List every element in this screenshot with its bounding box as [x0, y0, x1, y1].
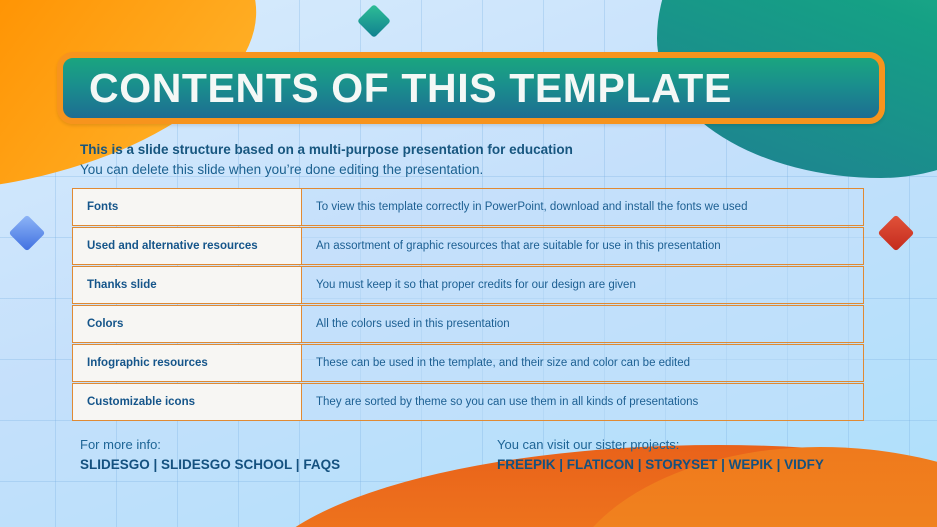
table-cell-description: They are sorted by theme so you can use … — [302, 383, 864, 421]
table-row-description: To view this template correctly in Power… — [316, 201, 747, 213]
table-row-label: Infographic resources — [87, 357, 208, 369]
table-cell-label: Fonts — [72, 188, 302, 226]
table-cell-description: You must keep it so that proper credits … — [302, 266, 864, 304]
table-cell-label: Used and alternative resources — [72, 227, 302, 265]
table-row-label: Colors — [87, 318, 123, 330]
title-banner: CONTENTS OF THIS TEMPLATE — [57, 52, 885, 124]
footer-sister-projects-links[interactable]: FREEPIK | FLATICON | STORYSET | WEPIK | … — [497, 455, 824, 475]
table-row-label: Customizable icons — [87, 396, 195, 408]
table-row-description: An assortment of graphic resources that … — [316, 240, 721, 252]
table-cell-label: Thanks slide — [72, 266, 302, 304]
subtitle-bold-line: This is a slide structure based on a mul… — [80, 140, 573, 160]
page-title: CONTENTS OF THIS TEMPLATE — [89, 68, 732, 109]
footer-more-info: For more info: SLIDESGO | SLIDESGO SCHOO… — [80, 435, 340, 475]
table-cell-label: Colors — [72, 305, 302, 343]
table-row[interactable]: Infographic resources These can be used … — [72, 344, 864, 382]
table-row-description: All the colors used in this presentation — [316, 318, 510, 330]
table-row-description: These can be used in the template, and t… — [316, 357, 690, 369]
contents-table: Fonts To view this template correctly in… — [72, 188, 864, 422]
table-cell-description: These can be used in the template, and t… — [302, 344, 864, 382]
table-row-label: Used and alternative resources — [87, 240, 258, 252]
table-row-description: They are sorted by theme so you can use … — [316, 396, 698, 408]
table-row[interactable]: Used and alternative resources An assort… — [72, 227, 864, 265]
table-cell-description: An assortment of graphic resources that … — [302, 227, 864, 265]
table-row[interactable]: Fonts To view this template correctly in… — [72, 188, 864, 226]
table-row-description: You must keep it so that proper credits … — [316, 279, 636, 291]
table-cell-description: To view this template correctly in Power… — [302, 188, 864, 226]
table-cell-label: Customizable icons — [72, 383, 302, 421]
footer-sister-projects-label: You can visit our sister projects: — [497, 435, 824, 455]
table-row[interactable]: Customizable icons They are sorted by th… — [72, 383, 864, 421]
table-cell-label: Infographic resources — [72, 344, 302, 382]
footer-sister-projects: You can visit our sister projects: FREEP… — [497, 435, 824, 475]
table-row[interactable]: Thanks slide You must keep it so that pr… — [72, 266, 864, 304]
subtitle-block: This is a slide structure based on a mul… — [80, 140, 573, 179]
subtitle-regular-line: You can delete this slide when you’re do… — [80, 160, 573, 180]
table-row[interactable]: Colors All the colors used in this prese… — [72, 305, 864, 343]
table-cell-description: All the colors used in this presentation — [302, 305, 864, 343]
footer-more-info-links[interactable]: SLIDESGO | SLIDESGO SCHOOL | FAQS — [80, 455, 340, 475]
footer-more-info-label: For more info: — [80, 435, 340, 455]
slide-canvas: CONTENTS OF THIS TEMPLATE This is a slid… — [0, 0, 937, 527]
table-row-label: Fonts — [87, 201, 118, 213]
table-row-label: Thanks slide — [87, 279, 157, 291]
